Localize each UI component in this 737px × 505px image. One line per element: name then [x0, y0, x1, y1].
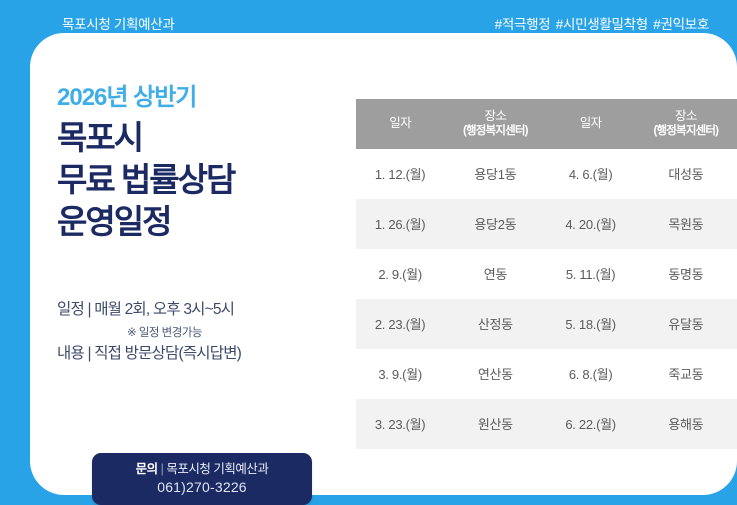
table-row: 3. 23.(월) 원산동 6. 22.(월) 용해동 [356, 399, 737, 449]
column-header-main: 장소 [675, 109, 697, 123]
cell-place-left: 연동 [444, 249, 546, 299]
column-header-place-1: 장소 (행정복지센터) [444, 99, 546, 149]
cell-date-right: 5. 11.(월) [546, 249, 634, 299]
schedule-value: 매월 2회, 오후 3시~5시 [94, 301, 234, 318]
cell-place-right: 목원동 [635, 199, 737, 249]
column-header-date-2: 일자 [546, 99, 634, 149]
cell-place-right: 죽교동 [635, 349, 737, 399]
cell-date-right: 4. 20.(월) [546, 199, 634, 249]
schedule-table: 일자 장소 (행정복지센터) 일자 장소 ( [356, 99, 737, 449]
content-value: 직접 방문상담(즉시답변) [94, 345, 241, 362]
title-line-2: 무료 법률상담 [57, 159, 347, 201]
contact-label: 문의 [136, 462, 158, 476]
page-title: 목포시 무료 법률상담 운영일정 [57, 117, 347, 242]
table-row: 3. 9.(월) 연산동 6. 8.(월) 죽교동 [356, 349, 737, 399]
column-header-main: 일자 [389, 116, 411, 130]
column-header-date-1: 일자 [356, 99, 444, 149]
content-line: 내용 | 직접 방문상담(즉시답변) [57, 342, 357, 365]
hashtag-2: #시민생활밀착형 [556, 17, 648, 32]
cell-date-left: 3. 23.(월) [356, 399, 444, 449]
content-label: 내용 [57, 345, 84, 362]
title-line-3: 운영일정 [57, 201, 347, 243]
cell-place-left: 연산동 [444, 349, 546, 399]
cell-place-left: 원산동 [444, 399, 546, 449]
cell-date-left: 2. 9.(월) [356, 249, 444, 299]
cell-date-left: 2. 23.(월) [356, 299, 444, 349]
column-header-main: 일자 [580, 116, 602, 130]
table-header-row: 일자 장소 (행정복지센터) 일자 장소 ( [356, 99, 737, 149]
cell-place-left: 용당1동 [444, 149, 546, 199]
contact-badge: 문의|목포시청 기획예산과 061)270-3226 [92, 453, 312, 505]
contact-separator: | [161, 462, 164, 476]
table-row: 1. 26.(월) 용당2동 4. 20.(월) 목원동 [356, 199, 737, 249]
table-row: 1. 12.(월) 용당1동 4. 6.(월) 대성동 [356, 149, 737, 199]
hashtag-3: #권익보호 [653, 17, 709, 32]
column-header-main: 장소 [484, 109, 506, 123]
cell-place-right: 대성동 [635, 149, 737, 199]
content-separator: | [87, 345, 90, 362]
cell-place-right: 용해동 [635, 399, 737, 449]
schedule-table-wrapper: 일자 장소 (행정복지센터) 일자 장소 ( [356, 99, 737, 449]
cell-place-left: 용당2동 [444, 199, 546, 249]
contact-office-row: 문의|목포시청 기획예산과 [102, 461, 302, 478]
department-label: 목포시청 기획예산과 [62, 13, 175, 33]
hero-eyebrow: 2026년 상반기 [57, 85, 347, 111]
hashtag-group: #적극행정 #시민생활밀착형 #권익보호 [493, 13, 709, 33]
poster-root: 목포시청 기획예산과 #적극행정 #시민생활밀착형 #권익보호 2026년 상반… [0, 0, 737, 505]
cell-date-right: 6. 22.(월) [546, 399, 634, 449]
cell-date-right: 4. 6.(월) [546, 149, 634, 199]
hashtag-1: #적극행정 [495, 17, 551, 32]
content-card: 2026년 상반기 목포시 무료 법률상담 운영일정 일정 | 매월 2회, 오… [30, 33, 737, 495]
schedule-label: 일정 [57, 301, 84, 318]
cell-place-left: 산정동 [444, 299, 546, 349]
column-header-sub: (행정복지센터) [444, 124, 546, 139]
schedule-note: ※ 일정 변경가능 [57, 321, 272, 342]
contact-office: 목포시청 기획예산과 [166, 462, 268, 476]
cell-date-left: 1. 26.(월) [356, 199, 444, 249]
contact-phone: 061)270-3226 [102, 478, 302, 496]
schedule-separator: | [87, 301, 90, 318]
cell-place-right: 유달동 [635, 299, 737, 349]
cell-date-right: 6. 8.(월) [546, 349, 634, 399]
cell-date-left: 3. 9.(월) [356, 349, 444, 399]
title-line-1: 목포시 [57, 117, 347, 159]
cell-date-left: 1. 12.(월) [356, 149, 444, 199]
table-row: 2. 9.(월) 연동 5. 11.(월) 동명동 [356, 249, 737, 299]
cell-place-right: 동명동 [635, 249, 737, 299]
column-header-sub: (행정복지센터) [635, 124, 737, 139]
table-row: 2. 23.(월) 산정동 5. 18.(월) 유달동 [356, 299, 737, 349]
hero-block: 2026년 상반기 목포시 무료 법률상담 운영일정 [57, 85, 347, 242]
schedule-line: 일정 | 매월 2회, 오후 3시~5시 [57, 298, 357, 321]
cell-date-right: 5. 18.(월) [546, 299, 634, 349]
column-header-place-2: 장소 (행정복지센터) [635, 99, 737, 149]
details-block: 일정 | 매월 2회, 오후 3시~5시 ※ 일정 변경가능 내용 | 직접 방… [57, 298, 357, 366]
